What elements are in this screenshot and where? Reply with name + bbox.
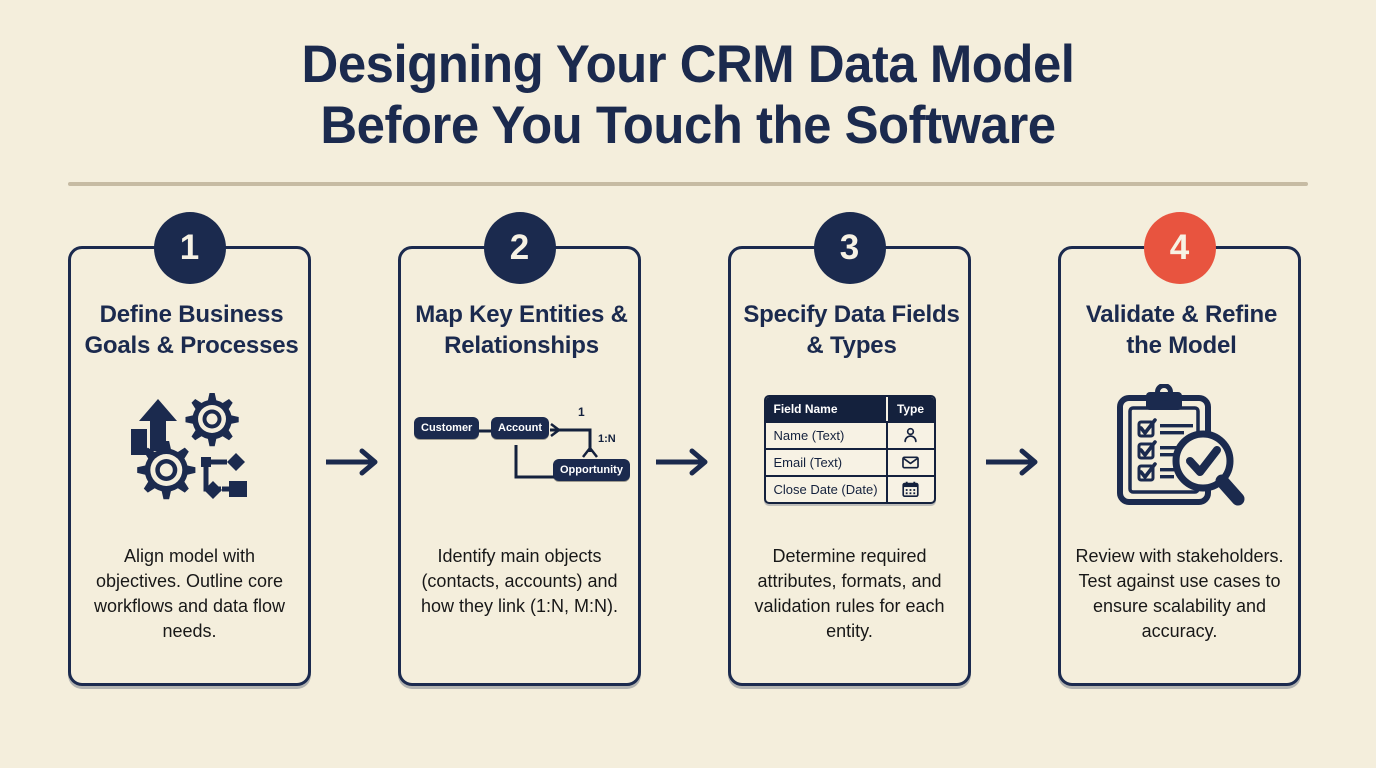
calendar-icon	[886, 477, 934, 502]
column-header-field-name: Field Name	[766, 397, 886, 421]
step-card-3[interactable]: 3 Specify Data Fields & Types Field Name…	[728, 246, 971, 686]
header-divider	[68, 182, 1308, 186]
step-description-2: Identify main objects (contacts, account…	[411, 544, 628, 619]
er-cardinality-one: 1	[578, 405, 585, 419]
arrow-1-to-2	[324, 444, 384, 480]
person-icon	[886, 423, 934, 448]
clipboard-checklist-magnifier-icon	[1061, 379, 1298, 519]
er-entity-customer: Customer	[414, 417, 479, 439]
steps-container: 1 Define Business Goals & Processes	[68, 246, 1308, 692]
page-title-line-2: Before You Touch the Software	[28, 95, 1349, 156]
column-header-type: Type	[886, 397, 934, 421]
arrow-3-to-4	[984, 444, 1044, 480]
table-row: Email (Text)	[766, 448, 934, 475]
gears-process-icon	[71, 379, 308, 519]
step-title-3: Specify Data Fields & Types	[739, 299, 964, 361]
step-title-1: Define Business Goals & Processes	[79, 299, 304, 361]
page-title-line-1: Designing Your CRM Data Model	[28, 34, 1349, 95]
step-badge-1: 1	[154, 212, 226, 284]
step-title-4: Validate & Refine the Model	[1069, 299, 1294, 361]
entity-relationship-diagram-icon: Customer Account Opportunity 1 1:N	[401, 379, 638, 519]
step-badge-2: 2	[484, 212, 556, 284]
page-header: Designing Your CRM Data Model Before You…	[0, 34, 1376, 156]
field-name-cell: Email (Text)	[766, 450, 886, 475]
field-type-table-icon: Field Name Type Name (Text) Email (Text)	[731, 379, 968, 519]
step-description-1: Align model with objectives. Outline cor…	[81, 544, 298, 644]
field-name-cell: Name (Text)	[766, 423, 886, 448]
table-row: Name (Text)	[766, 421, 934, 448]
er-entity-opportunity: Opportunity	[553, 459, 630, 481]
step-badge-4: 4	[1144, 212, 1216, 284]
table-row: Close Date (Date)	[766, 475, 934, 502]
table-header-row: Field Name Type	[766, 397, 934, 421]
er-cardinality-one-to-many: 1:N	[598, 433, 616, 445]
step-title-2: Map Key Entities & Relationships	[409, 299, 634, 361]
step-description-4: Review with stakeholders. Test against u…	[1071, 544, 1288, 644]
field-name-cell: Close Date (Date)	[766, 477, 886, 502]
step-card-4[interactable]: 4 Validate & Refine the Model	[1058, 246, 1301, 686]
step-description-3: Determine required attributes, formats, …	[741, 544, 958, 644]
er-entity-account: Account	[491, 417, 549, 439]
arrow-2-to-3	[654, 444, 714, 480]
step-card-2[interactable]: 2 Map Key Entities & Relationships Custo…	[398, 246, 641, 686]
step-card-1[interactable]: 1 Define Business Goals & Processes	[68, 246, 311, 686]
envelope-icon	[886, 450, 934, 475]
er-diagram: Customer Account Opportunity 1 1:N	[412, 389, 627, 509]
field-type-table: Field Name Type Name (Text) Email (Text)	[764, 395, 936, 504]
step-badge-3: 3	[814, 212, 886, 284]
